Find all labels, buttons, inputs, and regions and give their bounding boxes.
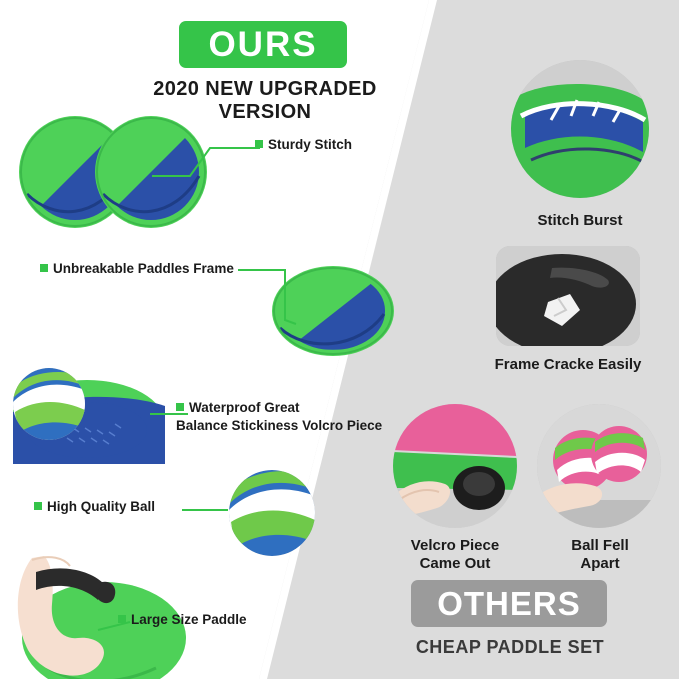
callout-label: High Quality Ball <box>47 499 155 514</box>
bullet-icon <box>176 403 184 411</box>
high-quality-ball-photo <box>229 470 315 556</box>
caption-velcro-came-out: Velcro Piece Came Out <box>385 537 525 573</box>
callout-label-line1: Waterproof Great <box>189 400 300 415</box>
ball-on-velcro <box>13 368 85 440</box>
leader-line-sturdy-stitch <box>150 140 270 180</box>
caption-line1: Velcro Piece <box>411 537 499 554</box>
others-subtitle: CHEAP PADDLE SET <box>392 637 628 658</box>
ours-banner: OURS <box>179 21 347 68</box>
caption-frame-cracke-easily: Frame Cracke Easily <box>462 356 674 374</box>
callout-large-size-paddle: Large Size Paddle <box>118 612 247 629</box>
leader-line-high-quality-ball <box>180 500 236 520</box>
bullet-icon <box>118 615 126 623</box>
stitch-burst-photo <box>511 60 649 198</box>
caption-stitch-burst: Stitch Burst <box>501 212 659 230</box>
ball-fell-apart-photo <box>537 404 661 528</box>
others-banner-label: OTHERS <box>437 585 581 623</box>
bullet-icon <box>255 140 263 148</box>
callout-waterproof-velcro: Waterproof Great Balance Stickiness Volc… <box>176 399 382 435</box>
caption-line1: Ball Fell <box>571 537 629 554</box>
ours-banner-label: OURS <box>208 25 317 65</box>
caption-line2: Apart <box>580 555 619 572</box>
caption-line2: Came Out <box>420 555 491 572</box>
comparison-infographic: OURS 2020 NEW UPGRADED VERSION Sturdy St… <box>0 0 679 679</box>
callout-label: Sturdy Stitch <box>268 137 352 152</box>
callout-label-line2: Balance Stickiness Volcro Piece <box>176 418 382 433</box>
callout-label: Unbreakable Paddles Frame <box>53 261 234 276</box>
others-banner: OTHERS <box>411 580 607 627</box>
callout-unbreakable-frame: Unbreakable Paddles Frame <box>40 261 238 278</box>
frame-cracke-photo <box>496 246 640 346</box>
velcro-came-out-photo <box>393 404 517 528</box>
callout-sturdy-stitch: Sturdy Stitch <box>255 137 352 154</box>
bullet-icon <box>34 502 42 510</box>
callout-label: Large Size Paddle <box>131 612 247 627</box>
bullet-icon <box>40 264 48 272</box>
caption-ball-fell-apart: Ball Fell Apart <box>540 537 660 573</box>
callout-high-quality-ball: High Quality Ball <box>34 499 155 516</box>
